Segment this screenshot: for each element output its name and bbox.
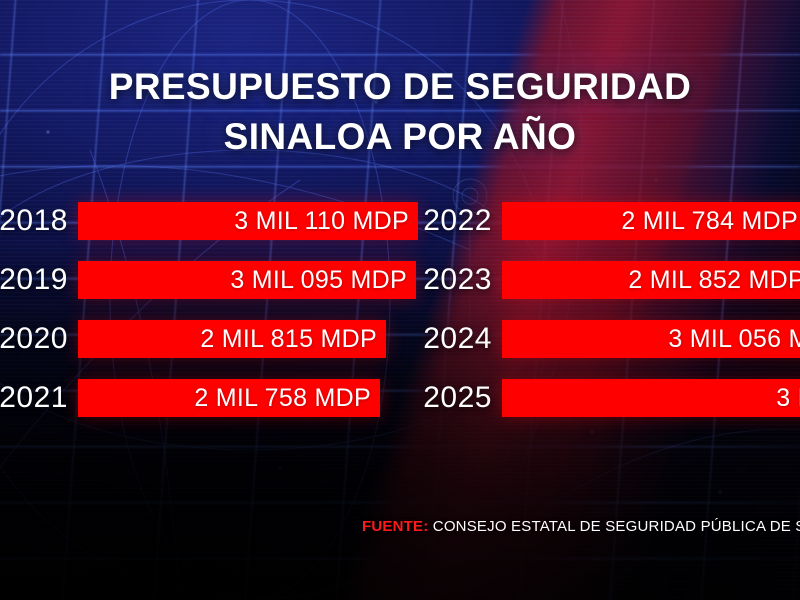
bar-2024: 3 MIL 056 MD — [502, 320, 800, 358]
bar-2025: 3 MIL 47 — [502, 379, 800, 417]
bar-year-label: 2020 — [0, 322, 68, 356]
bar-value-label: 2 MIL 815 MDP — [200, 325, 386, 354]
bar-row-2025: 2025 3 MIL 47 — [418, 379, 800, 417]
bar-row-2023: 2023 2 MIL 852 MDP — [418, 261, 800, 299]
bar-2018: 3 MIL 110 MDP — [78, 202, 418, 240]
bar-year-label: 2021 — [0, 381, 68, 415]
title-line-1: PRESUPUESTO DE SEGURIDAD — [0, 62, 800, 112]
bar-value-label: 3 MIL 47 — [776, 384, 800, 413]
page-title: PRESUPUESTO DE SEGURIDAD SINALOA POR AÑO — [0, 62, 800, 162]
bar-row-2022: 2022 2 MIL 784 MDP — [418, 202, 800, 240]
bar-2020: 2 MIL 815 MDP — [78, 320, 386, 358]
title-line-2: SINALOA POR AÑO — [0, 112, 800, 162]
bar-value-label: 2 MIL 784 MDP — [621, 207, 800, 236]
bar-year-label: 2023 — [418, 263, 492, 297]
bar-row-2019: 2019 3 MIL 095 MDP — [0, 261, 416, 299]
bar-year-label: 2018 — [0, 204, 68, 238]
bar-row-2018: 2018 3 MIL 110 MDP — [0, 202, 418, 240]
bar-year-label: 2024 — [418, 322, 492, 356]
bar-2023: 2 MIL 852 MDP — [502, 261, 800, 299]
bar-row-2020: 2020 2 MIL 815 MDP — [0, 320, 386, 358]
bar-2022: 2 MIL 784 MDP — [502, 202, 800, 240]
bar-value-label: 3 MIL 110 MDP — [234, 207, 418, 236]
bar-row-2024: 2024 3 MIL 056 MD — [418, 320, 800, 358]
infographic-canvas: PRESUPUESTO DE SEGURIDAD SINALOA POR AÑO… — [0, 0, 800, 600]
bar-row-2021: 2021 2 MIL 758 MDP — [0, 379, 380, 417]
bar-value-label: 2 MIL 758 MDP — [194, 384, 380, 413]
source-text: CONSEJO ESTATAL DE SEGURIDAD PÚBLICA DE … — [433, 518, 800, 535]
source-label: FUENTE: — [362, 518, 428, 535]
bar-year-label: 2025 — [418, 381, 492, 415]
bar-year-label: 2019 — [0, 263, 68, 297]
source-line: FUENTE: CONSEJO ESTATAL DE SEGURIDAD PÚB… — [362, 518, 800, 535]
bar-value-label: 2 MIL 852 MDP — [628, 266, 800, 295]
bar-value-label: 3 MIL 095 MDP — [230, 266, 416, 295]
bar-value-label: 3 MIL 056 MD — [668, 325, 800, 354]
bar-2021: 2 MIL 758 MDP — [78, 379, 380, 417]
bar-year-label: 2022 — [418, 204, 492, 238]
bar-2019: 3 MIL 095 MDP — [78, 261, 416, 299]
